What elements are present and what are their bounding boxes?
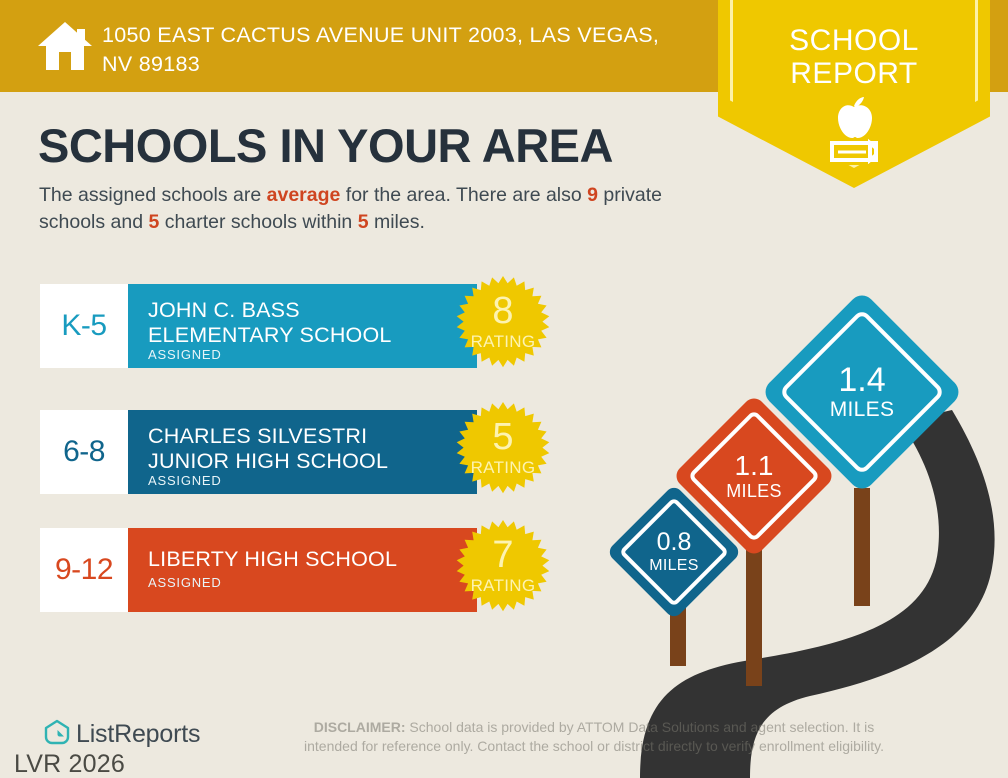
badge-line-2: REPORT (718, 57, 990, 90)
subtitle-part-4: charter schools within (159, 211, 357, 233)
sign-distance-unit: MILES (830, 398, 895, 422)
rating-value: 8 (451, 292, 555, 330)
sign-distance-unit: MILES (649, 556, 699, 575)
page-title: SCHOOLS IN YOUR AREA (38, 118, 613, 174)
rating-burst: 7 RATING (451, 518, 555, 622)
rating-value: 5 (451, 418, 555, 456)
school-name: JOHN C. BASS ELEMENTARY SCHOOL (148, 298, 468, 348)
footer-lvr-label: LVR 2026 (14, 750, 125, 778)
school-name: LIBERTY HIGH SCHOOL (148, 547, 468, 572)
subtitle-part-2: for the area. There are also (340, 184, 587, 206)
sign-distance-value: 0.8 (657, 529, 692, 556)
footer-brand-name: ListReports (76, 720, 200, 749)
school-name-line-1: CHARLES SILVESTRI (148, 424, 468, 449)
subtitle-highlight-radius: 5 (358, 211, 369, 233)
distance-sign: 0.8 MILES (626, 504, 722, 600)
subtitle-highlight-private-count: 9 (587, 184, 598, 206)
sign-distance-value: 1.4 (838, 362, 885, 398)
sign-post (854, 488, 870, 606)
school-name: CHARLES SILVESTRI JUNIOR HIGH SCHOOL (148, 424, 468, 474)
school-row[interactable]: 9-12 LIBERTY HIGH SCHOOL ASSIGNED (40, 528, 477, 612)
school-status: ASSIGNED (148, 575, 222, 590)
subtitle: The assigned schools are average for the… (39, 182, 709, 236)
rating-burst: 8 RATING (451, 274, 555, 378)
rating-label: RATING (451, 332, 555, 352)
disclaimer-label: DISCLAIMER: (314, 719, 406, 735)
grade-range-badge: 9-12 (40, 528, 128, 612)
grade-range-badge: K-5 (40, 284, 128, 368)
school-name-line-2: JUNIOR HIGH SCHOOL (148, 449, 468, 474)
subtitle-part-5: miles. (369, 211, 425, 233)
school-row[interactable]: 6-8 CHARLES SILVESTRI JUNIOR HIGH SCHOOL… (40, 410, 477, 494)
subtitle-highlight-charter-count: 5 (149, 211, 160, 233)
badge-line-1: SCHOOL (718, 24, 990, 57)
rating-label: RATING (451, 576, 555, 596)
school-name-line-1: LIBERTY HIGH SCHOOL (148, 547, 468, 572)
school-bar: LIBERTY HIGH SCHOOL ASSIGNED (128, 528, 477, 612)
school-name-line-1: JOHN C. BASS (148, 298, 468, 323)
school-bar: CHARLES SILVESTRI JUNIOR HIGH SCHOOL ASS… (128, 410, 477, 494)
school-name-line-2: ELEMENTARY SCHOOL (148, 323, 468, 348)
rating-burst: 5 RATING (451, 400, 555, 504)
sign-distance-unit: MILES (726, 481, 782, 502)
school-row[interactable]: K-5 JOHN C. BASS ELEMENTARY SCHOOL ASSIG… (40, 284, 477, 368)
rating-value: 7 (451, 536, 555, 574)
sign-text: 0.8 MILES (626, 504, 722, 600)
apple-on-books-icon (800, 96, 908, 164)
grade-range-badge: 6-8 (40, 410, 128, 494)
school-bar: JOHN C. BASS ELEMENTARY SCHOOL ASSIGNED (128, 284, 477, 368)
school-status: ASSIGNED (148, 347, 222, 362)
home-icon (36, 19, 94, 73)
sign-distance-value: 1.1 (735, 451, 774, 481)
sign-post (746, 550, 762, 686)
listreports-house-icon (44, 719, 70, 745)
school-status: ASSIGNED (148, 473, 222, 488)
disclaimer: DISCLAIMER: School data is provided by A… (294, 718, 894, 756)
rating-label: RATING (451, 458, 555, 478)
road-illustration: 1.4 MILES 1.1 MILES 0.8 MILES (600, 300, 1008, 778)
subtitle-part-1: The assigned schools are (39, 184, 267, 206)
school-report-infographic: 1050 EAST CACTUS AVENUE UNIT 2003, LAS V… (0, 0, 1008, 778)
school-report-badge-title: SCHOOL REPORT (718, 24, 990, 90)
property-address: 1050 EAST CACTUS AVENUE UNIT 2003, LAS V… (102, 21, 692, 79)
subtitle-highlight-average: average (267, 184, 341, 206)
